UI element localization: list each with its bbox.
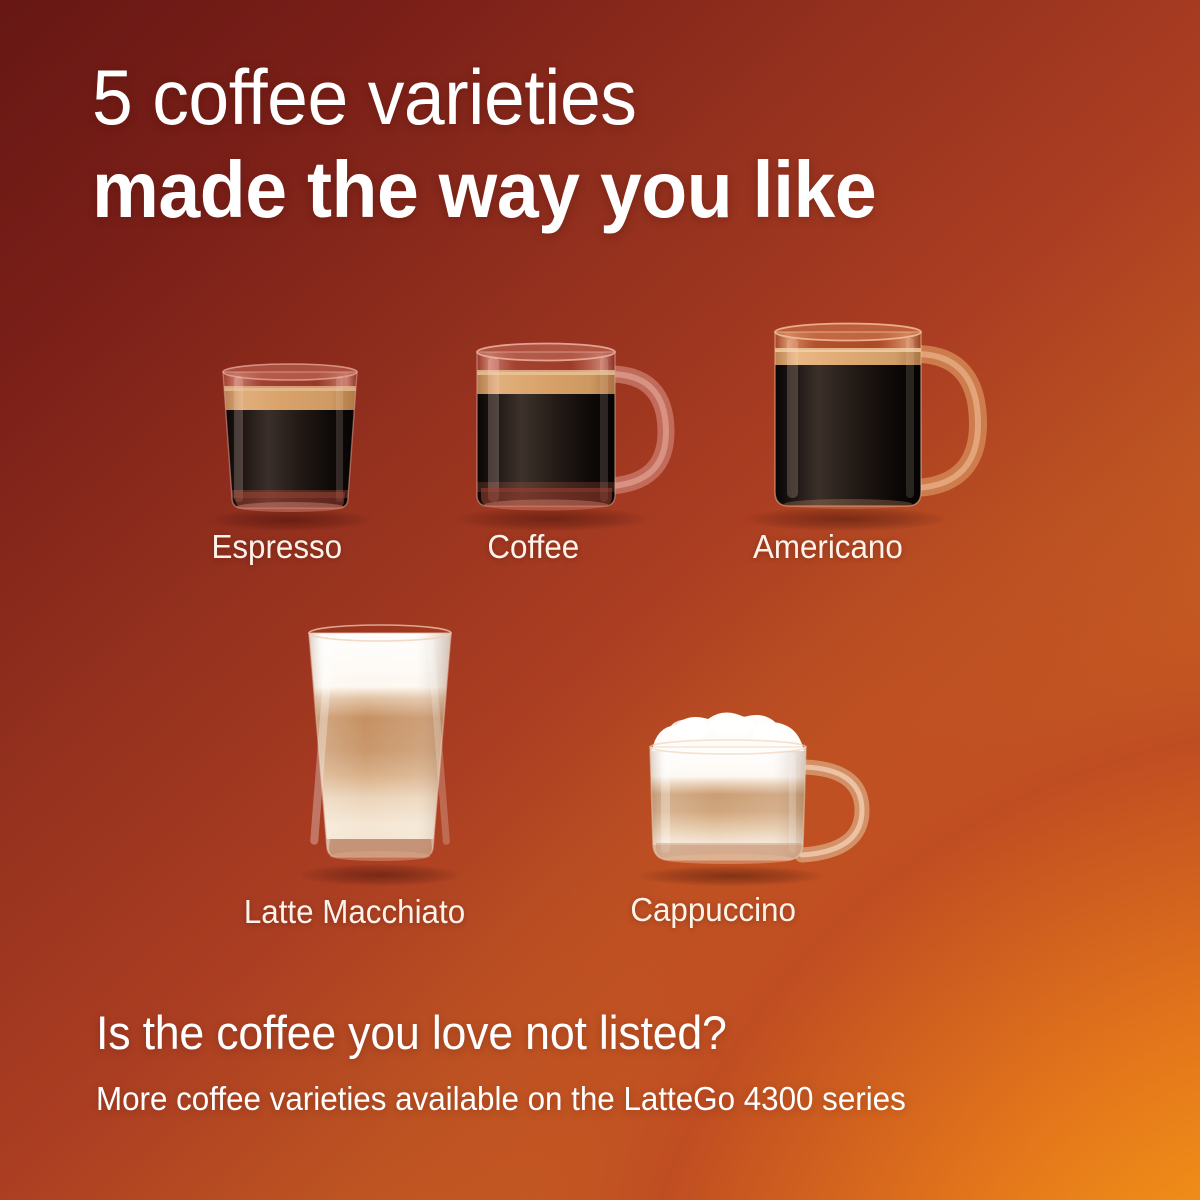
promo-poster: 5 coffee varieties made the way you like <box>0 0 1200 1200</box>
footer-question: Is the coffee you love not listed? <box>96 1005 1075 1060</box>
drink-label-cappuccino: Cappuccino <box>630 891 796 929</box>
espresso-glass-icon <box>205 350 375 525</box>
page-title: 5 coffee varieties made the way you like <box>92 58 1132 230</box>
headline-line-2: made the way you like <box>92 150 1070 230</box>
drink-item-espresso: Espresso <box>205 350 375 525</box>
drink-label-espresso: Espresso <box>211 528 342 566</box>
headline-line-1: 5 coffee varieties <box>92 58 1070 136</box>
drink-item-americano: Americano <box>745 312 995 525</box>
coffee-mug-icon <box>455 330 685 525</box>
americano-mug-icon <box>745 312 995 525</box>
drink-item-coffee: Coffee <box>455 330 685 525</box>
latte-glass-icon <box>285 615 475 880</box>
drink-label-latte-macchiato: Latte Macchiato <box>244 893 465 931</box>
footer-block: Is the coffee you love not listed? More … <box>96 1005 1126 1118</box>
cappuccino-cup-icon <box>628 705 878 880</box>
drink-item-latte-macchiato: Latte Macchiato <box>285 615 475 880</box>
drink-item-cappuccino: Cappuccino <box>628 705 878 880</box>
drink-label-coffee: Coffee <box>487 528 579 566</box>
drink-label-americano: Americano <box>753 528 903 566</box>
footer-subtext: More coffee varieties available on the L… <box>96 1080 1075 1118</box>
